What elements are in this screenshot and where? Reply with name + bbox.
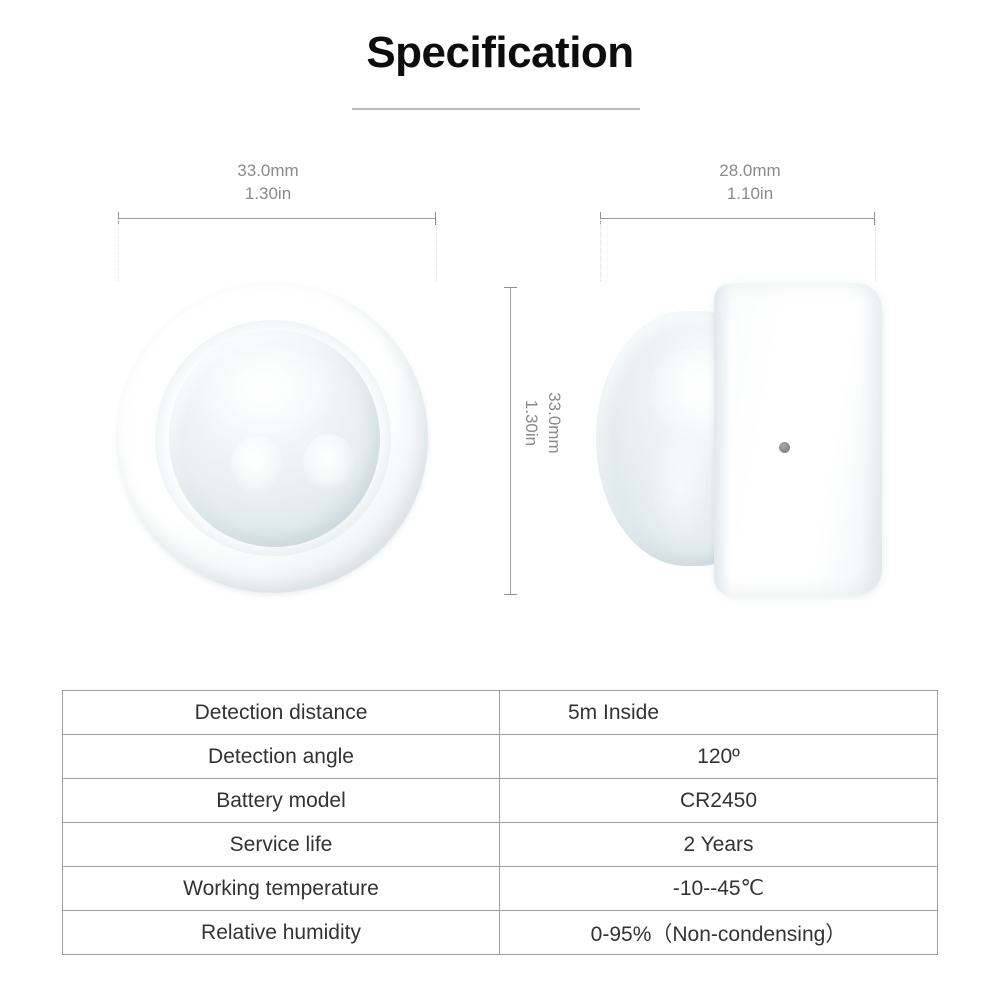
front-width-dimension-line <box>118 218 436 219</box>
spec-label: Working temperature <box>63 867 500 911</box>
led-indicator <box>779 442 790 453</box>
spec-value: 2 Years <box>500 823 938 867</box>
sensor-housing-body <box>714 283 882 595</box>
spec-value: CR2450 <box>500 779 938 823</box>
side-width-dimension-label: 28.0mm1.10in <box>650 160 850 206</box>
sensor-housing-edge <box>714 283 730 595</box>
front-width-dimension-label: 33.0mm1.30in <box>168 160 368 206</box>
table-row: Service life 2 Years <box>63 823 938 867</box>
spec-label: Detection distance <box>63 691 500 735</box>
table-row: Detection angle 120º <box>63 735 938 779</box>
title-divider <box>352 108 640 110</box>
side-width-extension-right <box>875 219 876 281</box>
pir-sensor-side-view <box>596 283 882 595</box>
table-row: Battery model CR2450 <box>63 779 938 823</box>
pir-sensor-front-view <box>118 283 428 593</box>
front-width-mm: 33.0mm <box>237 161 298 180</box>
table-row: Relative humidity 0-95%（Non-condensing） <box>63 911 938 955</box>
side-width-mm: 28.0mm <box>719 161 780 180</box>
spec-value: 120º <box>500 735 938 779</box>
spec-value: 5m Inside <box>500 691 938 735</box>
height-mm: 33.0mm <box>545 392 564 453</box>
dome-specular-left <box>231 436 283 494</box>
specification-table-body: Detection distance 5m Inside Detection a… <box>63 691 938 955</box>
page-title: Specification <box>0 28 1000 78</box>
height-dimension-line <box>510 287 511 595</box>
front-width-extension-right <box>436 219 437 281</box>
specification-table: Detection distance 5m Inside Detection a… <box>62 690 938 955</box>
side-width-in: 1.10in <box>727 184 773 203</box>
side-width-dimension-line <box>600 218 875 219</box>
height-dimension-label: 33.0mm1.30in <box>519 368 565 478</box>
spec-label: Battery model <box>63 779 500 823</box>
spec-label: Relative humidity <box>63 911 500 955</box>
table-row: Detection distance 5m Inside <box>63 691 938 735</box>
side-width-extension-left <box>600 219 601 281</box>
side-lens-highlight-lower <box>652 429 706 539</box>
table-row: Working temperature -10--45℃ <box>63 867 938 911</box>
front-width-extension-left <box>118 219 119 281</box>
spec-value: -10--45℃ <box>500 867 938 911</box>
sensor-dome-lens <box>169 330 380 547</box>
specification-page: Specification 33.0mm1.30in 28.0mm1.10in … <box>0 0 1000 1000</box>
spec-label: Detection angle <box>63 735 500 779</box>
spec-value: 0-95%（Non-condensing） <box>500 911 938 955</box>
spec-label: Service life <box>63 823 500 867</box>
front-width-in: 1.30in <box>245 184 291 203</box>
height-in: 1.30in <box>522 400 541 446</box>
dome-gloss-highlight <box>203 347 334 434</box>
dome-specular-right <box>303 434 355 492</box>
